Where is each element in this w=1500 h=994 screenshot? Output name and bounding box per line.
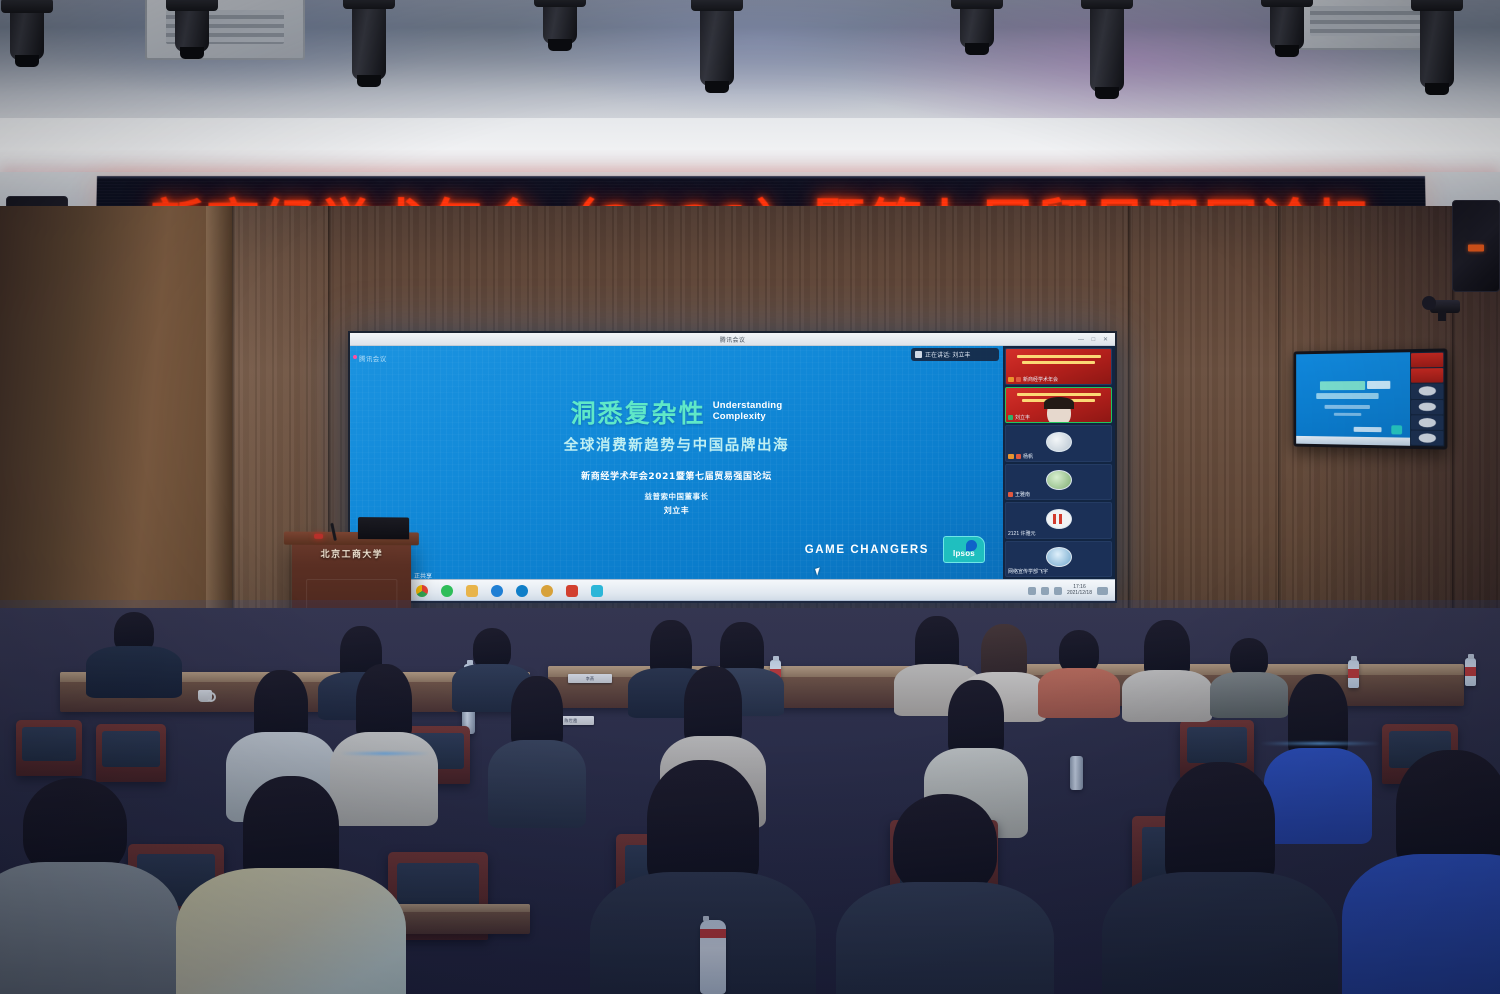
person-head <box>684 666 742 746</box>
slide-subtitle: 全球消费新趋势与中国品牌出海 <box>350 434 1003 455</box>
ipsos-logo-icon: Ipsos <box>943 536 985 563</box>
conference-hall-photo: 新商经学术年会（2021）暨第七届贸易强国论坛 <box>0 0 1500 994</box>
microphone-icon <box>915 351 922 358</box>
jbl-speaker-right <box>1452 200 1500 292</box>
stage-spotlight <box>1420 0 1454 88</box>
audience-member-foreground <box>176 776 406 994</box>
mic-muted-icon <box>1016 454 1021 459</box>
meeting-brand-label: 腾讯会议 <box>359 353 387 363</box>
water-bottle <box>1465 658 1476 686</box>
slide-title-en-line2: Complexity <box>713 412 783 423</box>
host-badge-icon <box>1008 454 1014 459</box>
person-torso <box>488 740 586 828</box>
shared-slide: 腾讯会议 洞悉复杂性 Understanding Complexity 全球消费… <box>350 346 1003 579</box>
ime-icon[interactable] <box>1054 587 1062 595</box>
participant-tile[interactable]: 新商经学术年会 <box>1005 348 1112 385</box>
coffee-mug <box>198 690 212 702</box>
stage-spotlight <box>352 0 386 80</box>
system-tray: 17:16 2021/12/18 <box>1028 585 1111 597</box>
lectern-university-name: 北京工商大学 <box>292 547 411 560</box>
participant-name: 新商经学术年会 <box>1023 376 1058 383</box>
chrome-icon[interactable] <box>416 585 428 597</box>
stage-spotlight <box>960 0 994 48</box>
audience-member <box>86 612 182 690</box>
side-monitor-right <box>1293 348 1447 449</box>
person-torso <box>86 646 182 698</box>
person-torso <box>1102 872 1338 994</box>
participant-tile[interactable]: 杨帆 <box>1005 425 1112 462</box>
desk-light-strip <box>340 752 430 755</box>
chair <box>16 720 82 776</box>
slide-title-en: Understanding Complexity <box>713 401 783 422</box>
slide-title-cn: 洞悉复杂性 <box>571 394 706 430</box>
person-torso <box>0 862 180 994</box>
audience-member-foreground <box>836 794 1054 994</box>
stage-spotlight <box>1270 0 1304 50</box>
audience-member <box>1122 620 1212 698</box>
wall-column-edge <box>206 206 232 676</box>
slide-tagline: GAME CHANGERS <box>805 544 929 556</box>
ipsos-logo-text: Ipsos <box>953 549 975 558</box>
avatar <box>1046 547 1072 567</box>
audience-member <box>1038 630 1120 702</box>
thermos-flask <box>1070 756 1083 790</box>
participant-name: 王雅南 <box>1015 491 1030 498</box>
person-head <box>511 676 563 750</box>
audience-seating: 吕苏 李燕 陈世霞 <box>0 608 1500 994</box>
water-bottle <box>700 920 726 994</box>
slide-speaker-name: 刘立丰 <box>350 505 1003 516</box>
qq-icon[interactable] <box>541 585 553 597</box>
taskbar-clock[interactable]: 17:16 2021/12/18 <box>1067 585 1092 597</box>
meeting-window-titlebar: 腾讯会议 — □ ✕ <box>350 333 1115 346</box>
host-badge-icon <box>1008 377 1014 382</box>
participant-name: 网络宣传学部飞宇 <box>1008 568 1048 575</box>
person-torso <box>1122 670 1212 722</box>
person-head <box>1165 762 1275 888</box>
slide-speaker-role: 益普索中国董事长 <box>350 491 1003 502</box>
mic-muted-icon <box>1008 492 1013 497</box>
speaking-now-indicator: 正在讲话: 刘立丰 <box>911 348 999 361</box>
meeting-window-title: 腾讯会议 <box>720 335 746 344</box>
screen-share-label: 正共享 <box>414 571 432 580</box>
side-monitor-right-participants <box>1410 352 1444 447</box>
person-torso <box>836 882 1054 994</box>
side-monitor-right-slide <box>1296 352 1410 446</box>
participant-rail: 正在讲话: 刘立丰 新商经学术年会 刘立丰 <box>1003 346 1115 579</box>
chair <box>96 724 166 782</box>
participant-tile[interactable]: 王雅南 <box>1005 464 1112 501</box>
audience-member-foreground <box>1102 762 1338 994</box>
participant-name: 2121 许雅元 <box>1008 530 1036 537</box>
meeting-window-body: 腾讯会议 洞悉复杂性 Understanding Complexity 全球消费… <box>350 346 1115 579</box>
participant-tile-active[interactable]: 刘立丰 <box>1005 387 1112 424</box>
mic-on-icon <box>1008 415 1013 420</box>
wall-column-left <box>0 206 232 676</box>
stage-spotlight <box>175 0 209 52</box>
slide-event-name: 新商经学术年会2021暨第七届贸易强国论坛 <box>350 469 1003 482</box>
person-torso <box>1038 668 1120 718</box>
audience-member <box>488 676 586 802</box>
stage-spotlight <box>543 0 577 44</box>
clock-date: 2021/12/18 <box>1067 591 1092 597</box>
main-projection-screen: 腾讯会议 — □ ✕ 腾讯会议 洞悉复杂性 Understanding Comp… <box>348 331 1117 603</box>
participant-tile[interactable]: 网络宣传学部飞宇 <box>1005 541 1112 578</box>
window-controls[interactable]: — □ ✕ <box>1078 336 1111 343</box>
network-icon[interactable] <box>1028 587 1036 595</box>
media-icon[interactable] <box>516 585 528 597</box>
slide-footer: GAME CHANGERS Ipsos <box>805 536 985 563</box>
stage-spotlight <box>1090 0 1124 92</box>
edge-icon[interactable] <box>491 585 503 597</box>
person-torso <box>1342 854 1500 994</box>
ptz-camera-right <box>1430 300 1460 313</box>
speaking-now-text: 正在讲话: 刘立丰 <box>925 350 970 359</box>
audience-member-foreground <box>0 778 180 994</box>
avatar <box>1046 470 1072 490</box>
wechat-icon[interactable] <box>441 585 453 597</box>
participant-name: 刘立丰 <box>1015 414 1030 421</box>
record-indicator-icon <box>353 355 357 359</box>
person-head <box>893 794 997 894</box>
participant-name: 杨帆 <box>1023 453 1033 460</box>
ppt-icon[interactable] <box>566 585 578 597</box>
show-desktop-icon[interactable] <box>1097 587 1108 595</box>
stage-spotlight <box>10 0 44 60</box>
desk-light-strip <box>1260 742 1380 745</box>
stage-spotlight <box>700 0 734 86</box>
mic-muted-icon <box>1016 377 1021 382</box>
wall-seam <box>1128 206 1132 676</box>
person-head <box>948 680 1004 758</box>
wall-seam <box>1278 206 1282 676</box>
mouse-cursor-icon <box>815 567 822 575</box>
person-head <box>647 760 759 888</box>
folder-icon[interactable] <box>466 585 478 597</box>
lectern-laptop <box>358 517 409 539</box>
volume-icon[interactable] <box>1041 587 1049 595</box>
person-torso <box>176 868 406 994</box>
avatar <box>1046 509 1072 529</box>
audience-member <box>924 680 1028 812</box>
participant-tile[interactable]: 2121 许雅元 <box>1005 502 1112 539</box>
avatar <box>1046 432 1072 452</box>
person-head <box>1396 750 1500 870</box>
windows-taskbar: 正共享 17:16 2021/12/18 <box>350 579 1115 601</box>
wall-seam <box>232 206 236 676</box>
lectern-indicator-light <box>314 534 323 539</box>
meeting-icon[interactable] <box>591 585 603 597</box>
audience-member-foreground <box>1342 750 1500 994</box>
person-head <box>356 664 412 742</box>
